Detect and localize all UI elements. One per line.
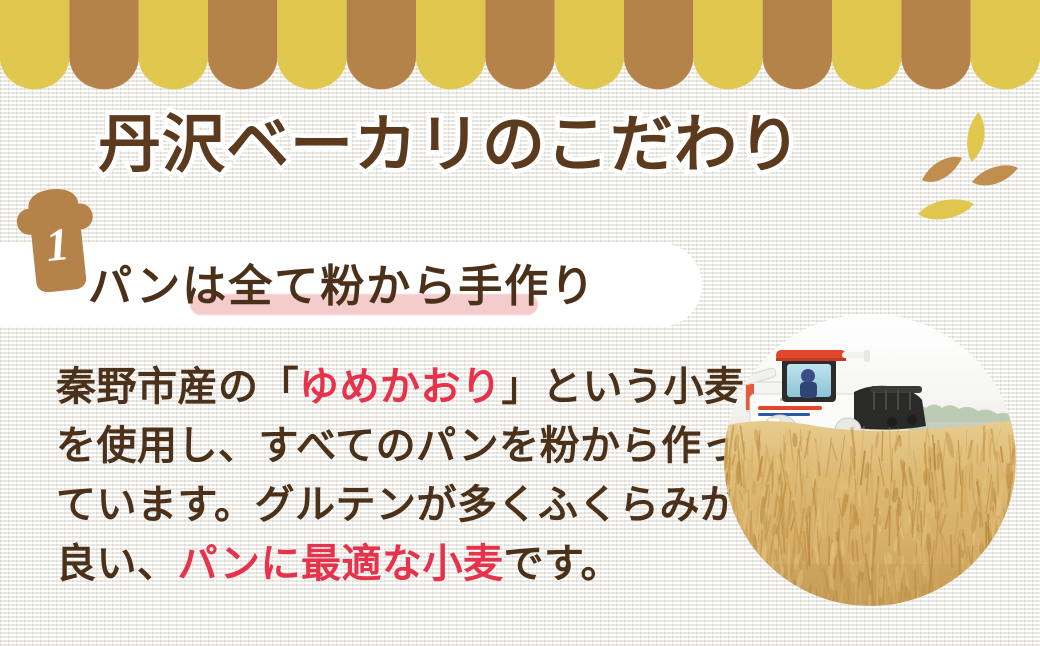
emphasized-text: パンに最適な小麦 xyxy=(178,542,504,586)
body-copy: 秦野市産の「ゆめかおり」という小麦を使用し、すべてのパンを粉から作っています。グ… xyxy=(56,358,696,594)
awning-scallop xyxy=(693,0,762,89)
awning-scallop xyxy=(624,0,693,89)
awning-scallop xyxy=(971,0,1040,89)
awning-scallop xyxy=(485,0,554,89)
promo-poster: 丹沢ベーカリのこだわり 1 パンは全て粉から手作り 秦野市産の「ゆめかおり」とい… xyxy=(0,0,1040,646)
awning-scallop xyxy=(555,0,624,89)
wheat-leaves-icon xyxy=(916,108,1026,232)
awning-scallop xyxy=(0,0,69,89)
body-line: ています。グルテンが多くふくらみが xyxy=(56,476,696,535)
page-title: 丹沢ベーカリのこだわり xyxy=(0,108,900,182)
scalloped-awning xyxy=(0,0,1040,92)
wheat-field-harvester-photo xyxy=(724,314,1016,606)
body-text: を使用し、すべてのパンを粉から作っ xyxy=(56,424,742,468)
awning-scallop xyxy=(139,0,208,89)
awning-scallop xyxy=(277,0,346,89)
subtitle-text: パンは全て粉から手作り xyxy=(88,261,596,313)
awning-scallop xyxy=(763,0,832,89)
body-text: 良い、 xyxy=(56,542,178,586)
body-line: 良い、パンに最適な小麦です。 xyxy=(56,535,696,594)
awning-scallop xyxy=(69,0,138,89)
body-text: ています。グルテンが多くふくらみが xyxy=(56,483,741,527)
awning-scallop xyxy=(416,0,485,89)
awning-scallop xyxy=(208,0,277,89)
body-text: です。 xyxy=(504,542,622,586)
awning-scallop xyxy=(347,0,416,89)
awning-scallop xyxy=(901,0,970,89)
emphasized-text: ゆめかおり xyxy=(299,365,502,409)
awning-scallop xyxy=(832,0,901,89)
body-text: 秦野市産の「 xyxy=(56,365,299,409)
body-line: を使用し、すべてのパンを粉から作っ xyxy=(56,417,696,476)
subtitle-wrapper: パンは全て粉から手作り xyxy=(88,252,596,322)
body-text: 」という小麦 xyxy=(502,365,745,409)
body-line: 秦野市産の「ゆめかおり」という小麦 xyxy=(56,358,696,417)
